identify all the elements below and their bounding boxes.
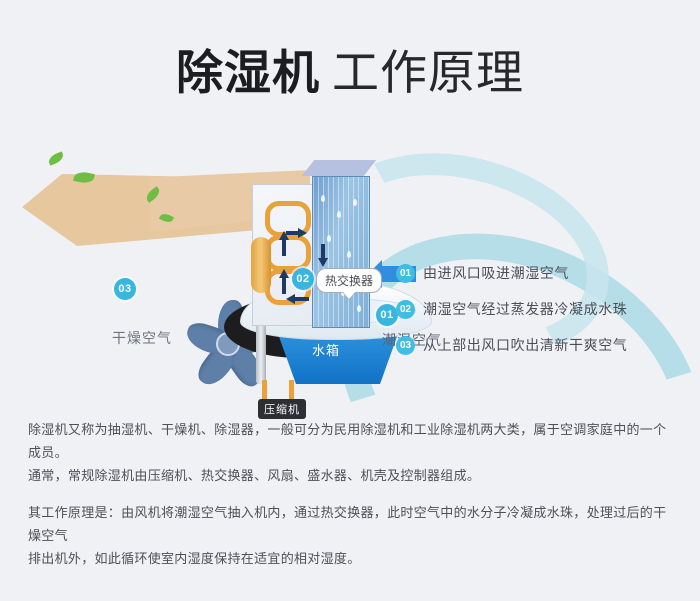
water-tank-label: 水箱: [312, 340, 340, 359]
legend-label-02: 潮湿空气经过蒸发器冷凝成水珠: [423, 299, 627, 319]
water-droplet-icon: [353, 199, 357, 206]
page-title: 除湿机工作原理: [0, 34, 700, 103]
paragraph-1-line-1: 除湿机又称为抽湿机、干燥机、除湿器，一般可分为民用除湿机和工业除湿机两大类，属于…: [28, 418, 676, 464]
compressor-coil-box-icon: [252, 184, 320, 326]
water-droplet-icon: [337, 211, 341, 218]
airflow-arrow-stem: [286, 231, 300, 235]
airflow-arrow-stem: [295, 297, 309, 301]
compressor-label: 压缩机: [258, 399, 306, 419]
steps-legend: 01 由进风口吸进潮湿空气 02 潮湿空气经过蒸发器冷凝成水珠 03 从上部出风…: [396, 255, 696, 363]
diagram-badge-02: 02: [292, 268, 314, 290]
machine-cabinet-icon: [246, 166, 378, 356]
airflow-arrow-left-icon: [286, 294, 295, 304]
title-primary: 除湿机: [176, 46, 320, 99]
compressor-cylinder-icon: [251, 237, 271, 293]
paragraph-2-line-2: 排出机外，如此循环使室内湿度保持在适宜的相对湿度。: [28, 547, 676, 570]
diagram-badge-01: 01: [376, 304, 398, 326]
legend-item-02: 02 潮湿空气经过蒸发器冷凝成水珠: [396, 291, 696, 327]
refrigerant-coil-icon: [265, 235, 311, 271]
legend-badge-03: 03: [396, 336, 415, 355]
water-droplet-icon: [321, 195, 325, 202]
water-droplet-icon: [327, 235, 331, 242]
heat-exchanger-callout: 热交换器: [316, 268, 382, 293]
legend-badge-02: 02: [396, 300, 415, 319]
paragraph-1-line-2: 通常，常规除湿机由压缩机、热交换器、风扇、盛水器、机壳及控制器组成。: [28, 464, 676, 487]
flow-arrow-stem: [282, 278, 286, 294]
paragraph-2-line-1: 其工作原理是：由风机将潮湿空气抽入机内，通过热交换器，此时空气中的水分子冷凝成水…: [28, 501, 676, 547]
water-droplet-icon: [357, 305, 361, 312]
evaporator-top-icon: [302, 160, 377, 176]
description-block: 除湿机又称为抽湿机、干燥机、除湿器，一般可分为民用除湿机和工业除湿机两大类，属于…: [28, 418, 676, 570]
leaf-icon: [47, 151, 65, 165]
legend-label-03: 从上部出风口吹出清新干爽空气: [423, 335, 627, 355]
legend-item-03: 03 从上部出风口吹出清新干爽空气: [396, 327, 696, 363]
dry-air-label: 干燥空气: [112, 328, 172, 348]
airflow-arrow-stem: [321, 244, 325, 260]
water-droplet-icon: [347, 251, 351, 258]
diagram-badge-03: 03: [114, 278, 136, 300]
flow-arrow-up-icon: [279, 269, 289, 278]
legend-item-01: 01 由进风口吸进潮湿空气: [396, 255, 696, 291]
flow-arrow-stem: [282, 240, 286, 256]
legend-badge-01: 01: [396, 264, 415, 283]
title-secondary: 工作原理: [332, 46, 524, 99]
legend-label-01: 由进风口吸进潮湿空气: [423, 263, 569, 283]
